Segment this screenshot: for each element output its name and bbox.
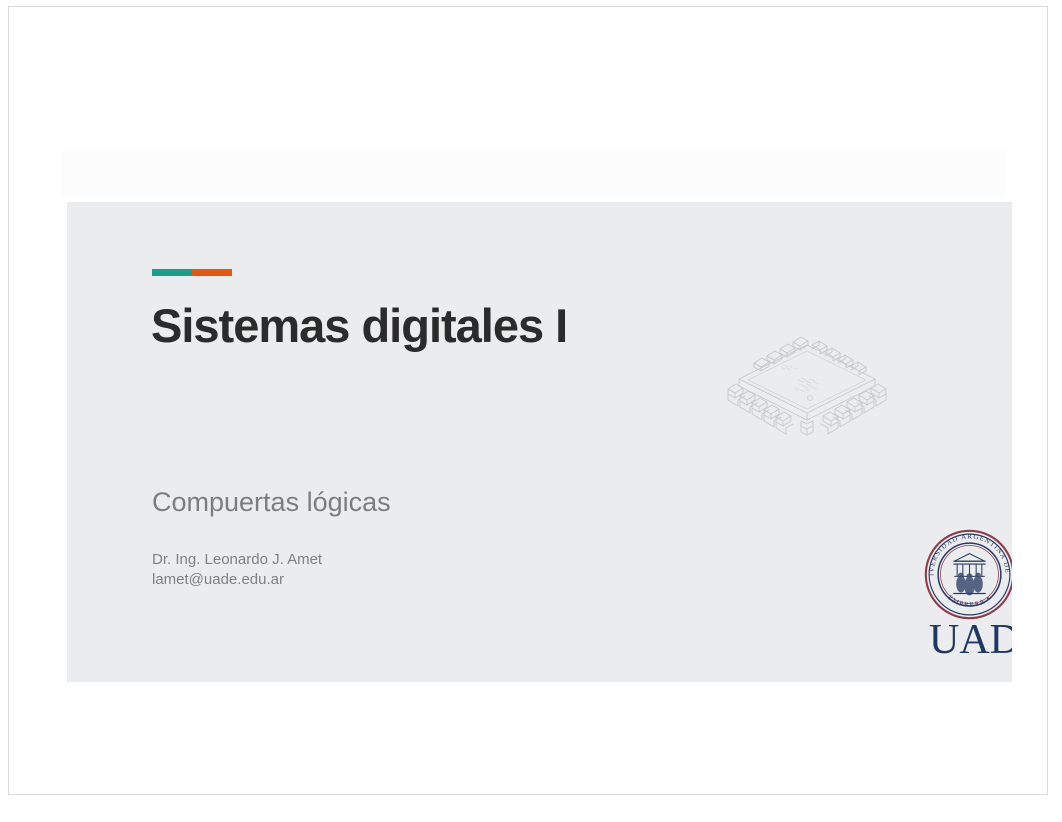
accent-bar-teal-segment [152,269,192,276]
uade-logo: UNIVERSIDAD ARGENTINA DE LA EMPRESA • [862,527,997,657]
author-block: Dr. Ing. Leonardo J. Amet lamet@uade.edu… [152,550,322,590]
slide-canvas: Sistemas digitales I Compuertas lógicas … [67,202,1012,682]
slide-title: Sistemas digitales I [151,298,567,353]
accent-bar [152,269,232,276]
svg-text:EMPRESA •: EMPRESA • [946,594,993,609]
slide-title-placeholder [61,151,1006,197]
document-page: Sistemas digitales I Compuertas lógicas … [8,6,1048,795]
slide-subtitle: Compuertas lógicas [152,487,391,518]
integrated-circuit-chip-icon [707,332,907,457]
uade-wordmark: UADE [929,619,1012,661]
author-name: Dr. Ing. Leonardo J. Amet [152,550,322,570]
author-email: lamet@uade.edu.ar [152,570,322,590]
uade-seal-icon: UNIVERSIDAD ARGENTINA DE LA EMPRESA • [922,527,1012,622]
accent-bar-orange-segment [192,269,232,276]
